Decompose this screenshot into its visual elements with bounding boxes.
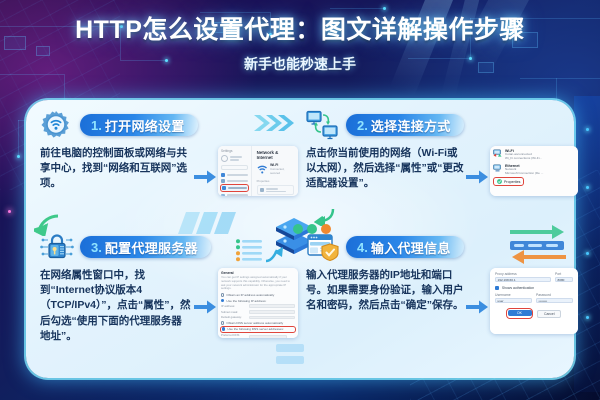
- step-1-header: 1. 打开网络设置: [40, 110, 298, 140]
- proxy-auth-checkbox[interactable]: Shows authentication: [495, 286, 573, 290]
- proxy-auth-checkbox-box[interactable]: [495, 286, 499, 290]
- settings-wifi-row[interactable]: Wi-Fi Connected, secured: [257, 163, 294, 175]
- adapter-row-wifi[interactable]: Wi-Fi Cotan-asconnected Wi_Fi connection…: [493, 149, 575, 161]
- step-4-arrow-icon: [466, 278, 488, 322]
- adapter-line2: Wi_Fi connections (Wi-Fi...: [505, 157, 542, 161]
- adapter-properties-label: Properties: [504, 180, 520, 184]
- step-4-description: 输入代理服务器的IP地址和端口号。如果需要身份验证，输入用户名和密码，然后点击“…: [306, 268, 464, 314]
- step-2-number: 2.: [357, 118, 368, 133]
- step-3-arrow-icon: [194, 278, 216, 322]
- tcpip-radio-dns-auto-label: Obtain DNS server address automatically: [226, 321, 283, 325]
- proxy-ok-button[interactable]: OK: [508, 310, 532, 316]
- tcpip-intro-text: You can get IP settings assigned automat…: [221, 276, 295, 291]
- step-2-title: 选择连接方式: [371, 116, 451, 135]
- browser-shield-icon: [306, 232, 340, 262]
- settings-panel-title: Network & Internet: [257, 150, 294, 160]
- step-2: 2. 选择连接方式 点击你当前使用的网络（Wi-Fi或以太网），然后选择“属性”…: [306, 110, 578, 200]
- proxy-address-label: Proxy address: [495, 272, 551, 276]
- tcpip-radio-auto-label: Obtain an IP address automatically: [226, 293, 274, 297]
- tcpip-field-ip[interactable]: IP address:: [221, 304, 295, 308]
- adapter-row-ethernet[interactable]: Ethernet Network Microsoft Connection (D…: [493, 164, 575, 176]
- settings-avatar: [221, 155, 228, 162]
- proxy-port-input[interactable]: 8080: [555, 277, 573, 282]
- tcpip-field-mask-label: Subnet mask:: [221, 310, 247, 314]
- step-4-title-pill: 4. 输入代理信息: [346, 236, 464, 258]
- tcpip-radio-manual[interactable]: Use the following IP address:: [221, 299, 295, 303]
- header: HTTP怎么设置代理：图文详解操作步骤 新手也能秒速上手: [0, 0, 600, 96]
- step-4-header: 4. 输入代理信息: [306, 232, 578, 262]
- gear-wifi-icon: [40, 110, 74, 140]
- adapter-line2: Microsoft Connection (De ...: [505, 172, 543, 176]
- step-2-title-pill: 2. 选择连接方式: [346, 114, 464, 136]
- windows-settings-network-screenshot[interactable]: Settings: [218, 146, 298, 196]
- network-adapters-screenshot[interactable]: Wi-Fi Cotan-asconnected Wi_Fi connection…: [490, 146, 578, 196]
- step-1-description: 前往电脑的控制面板或网络与共享中心，找到“网络和互联网”选项。: [40, 146, 192, 192]
- step-1-arrow-icon: [194, 156, 216, 200]
- ethernet-adapter-icon: [493, 164, 502, 172]
- page-subtitle: 新手也能秒速上手: [0, 54, 600, 74]
- tcpip-radio-auto[interactable]: Obtain an IP address automatically: [221, 293, 295, 297]
- step-1-title-pill: 1. 打开网络设置: [80, 114, 198, 136]
- adapter-properties-button-highlight[interactable]: Properties: [494, 178, 523, 185]
- triple-chevron-right-icon: [252, 113, 298, 133]
- proxy-address-input[interactable]: 192.168.60.1: [495, 277, 551, 282]
- step-3-header: 3. 配置代理服务器: [40, 232, 298, 262]
- poster-root: HTTP怎么设置代理：图文详解操作步骤 新手也能秒速上手: [0, 0, 600, 400]
- step-3-description: 在网络属性窗口中，找到“Internet协议版本4（TCP/IPv4）”，点击“…: [40, 268, 192, 344]
- settings-nav-item[interactable]: [221, 194, 248, 196]
- proxy-auth-checkbox-label: Shows authentication: [502, 286, 534, 290]
- proxy-password-label: Password: [536, 293, 573, 297]
- tcp-ipv4-properties-screenshot[interactable]: General You can get IP settings assigned…: [218, 268, 298, 338]
- step-3-title: 配置代理服务器: [105, 238, 198, 257]
- step-4-title: 输入代理信息: [371, 238, 451, 257]
- page-title: HTTP怎么设置代理：图文详解操作步骤: [0, 18, 600, 43]
- proxy-ok-button-highlight[interactable]: OK: [507, 309, 533, 318]
- adapter-properties-button[interactable]: Properties: [494, 178, 523, 185]
- tcpip-field-gateway-label: Default gateway:: [221, 315, 247, 319]
- padlock-circuit-icon: [40, 232, 74, 262]
- step-3-number: 3.: [91, 240, 102, 255]
- settings-nav-item-highlighted[interactable]: [221, 185, 248, 191]
- step-3: 3. 配置代理服务器 在网络属性窗口中，找到“Internet协议版本4（TCP…: [40, 232, 298, 344]
- tcpip-field-mask[interactable]: Subnet mask:: [221, 310, 295, 314]
- tcpip-dialog-title: General: [221, 271, 295, 275]
- tcpip-field-gateway[interactable]: Default gateway:: [221, 315, 295, 319]
- settings-card-item[interactable]: [257, 185, 294, 196]
- step-4-number: 4.: [357, 240, 368, 255]
- wifi-adapter-icon: [493, 149, 502, 157]
- step-2-description: 点击你当前使用的网络（Wi-Fi或以太网），然后选择“属性”或“更改适配器设置”…: [306, 146, 464, 192]
- tcpip-field-dns-preferred[interactable]: Preferred DNS server:: [221, 333, 295, 338]
- proxy-username-input[interactable]: user: [495, 298, 532, 303]
- tcpip-field-dns-preferred-label: Preferred DNS server:: [221, 333, 247, 338]
- step-1-body: 前往电脑的控制面板或网络与共享中心，找到“网络和互联网”选项。 Settings: [40, 146, 298, 200]
- step-4-body: 输入代理服务器的IP地址和端口号。如果需要身份验证，输入用户名和密码，然后点击“…: [306, 268, 578, 334]
- settings-window-title: Settings: [221, 149, 248, 153]
- step-1-title: 打开网络设置: [105, 116, 185, 135]
- settings-wifi-status: Connected, secured: [270, 167, 294, 175]
- step-2-arrow-icon: [466, 156, 488, 200]
- tcpip-radio-dns-manual-highlight[interactable]: Use the following DNS server addresses:: [221, 327, 295, 332]
- proxy-password-input[interactable]: ••••••••: [536, 298, 573, 303]
- tcpip-radio-dns-manual-label: Use the following DNS server addresses:: [227, 327, 283, 331]
- tcpip-field-ip-label: IP address:: [221, 304, 247, 308]
- proxy-port-label: Port: [555, 272, 573, 276]
- step-1: 1. 打开网络设置 前往电脑的控制面板或网络与共享中心，找到“网络和互联网”选项…: [40, 110, 298, 200]
- proxy-cancel-button[interactable]: Cancel: [537, 310, 561, 318]
- step-3-title-pill: 3. 配置代理服务器: [80, 236, 211, 258]
- tcpip-radio-dns-auto[interactable]: Obtain DNS server address automatically: [221, 321, 295, 325]
- step-2-header: 2. 选择连接方式: [306, 110, 578, 140]
- tcpip-radio-manual-label: Use the following IP address:: [226, 299, 266, 303]
- step-4: 4. 输入代理信息 输入代理服务器的IP地址和端口号。如果需要身份验证，输入用户…: [306, 232, 578, 334]
- proxy-username-label: Username: [495, 293, 532, 297]
- settings-nav-item[interactable]: [221, 179, 248, 183]
- settings-nav-item[interactable]: [221, 173, 248, 177]
- settings-section-label: Properties: [257, 179, 294, 183]
- step-3-body: 在网络属性窗口中，找到“Internet协议版本4（TCP/IPv4）”，点击“…: [40, 268, 298, 344]
- step-2-body: 点击你当前使用的网络（Wi-Fi或以太网），然后选择“属性”或“更改适配器设置”…: [306, 146, 578, 200]
- proxy-credentials-dialog-screenshot[interactable]: Proxy address 192.168.60.1 Port 8080 Sho…: [490, 268, 578, 334]
- two-monitors-connection-icon: [306, 110, 340, 140]
- step-1-number: 1.: [91, 118, 102, 133]
- settings-search-input[interactable]: [221, 165, 248, 170]
